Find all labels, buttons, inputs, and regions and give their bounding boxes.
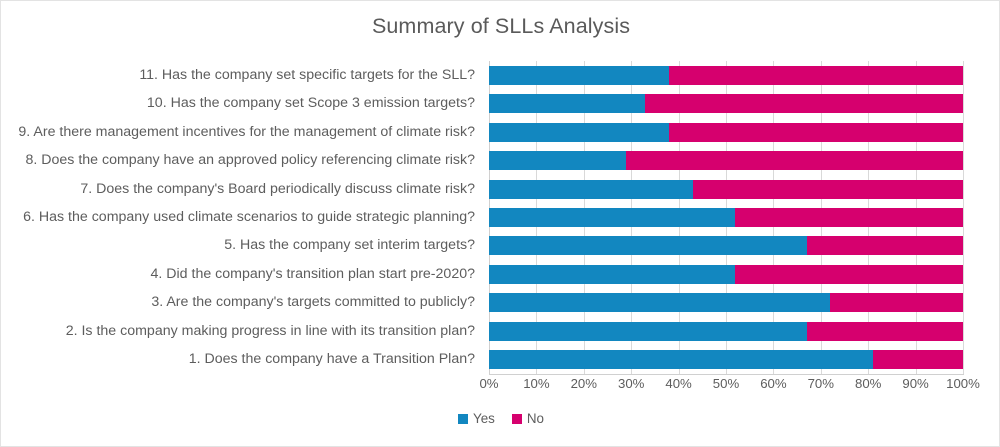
category-label: 7. Does the company's Board periodically… bbox=[80, 180, 475, 199]
bar-row[interactable] bbox=[489, 151, 963, 170]
chart-container: Summary of SLLs Analysis 11. Has the com… bbox=[0, 0, 1000, 447]
bar-segment-no[interactable] bbox=[807, 322, 963, 341]
bar-segment-yes[interactable] bbox=[489, 180, 693, 199]
category-label: 6. Has the company used climate scenario… bbox=[23, 208, 475, 227]
bar-segment-yes[interactable] bbox=[489, 208, 735, 227]
x-tick-label: 50% bbox=[713, 376, 739, 391]
bar-segment-no[interactable] bbox=[735, 265, 963, 284]
category-label: 8. Does the company have an approved pol… bbox=[25, 151, 475, 170]
legend-swatch-icon bbox=[512, 414, 522, 424]
x-axis-line bbox=[489, 374, 964, 375]
legend-swatch-icon bbox=[458, 414, 468, 424]
bar-segment-no[interactable] bbox=[735, 208, 963, 227]
category-axis-labels: 11. Has the company set specific targets… bbox=[1, 61, 483, 374]
bar-row[interactable] bbox=[489, 350, 963, 369]
category-label: 11. Has the company set specific targets… bbox=[139, 66, 475, 85]
bar-segment-no[interactable] bbox=[807, 236, 963, 255]
gridline-100% bbox=[963, 61, 964, 374]
category-label: 10. Has the company set Scope 3 emission… bbox=[147, 94, 475, 113]
x-tick-label: 70% bbox=[808, 376, 834, 391]
bar-row[interactable] bbox=[489, 208, 963, 227]
legend-label: Yes bbox=[473, 411, 495, 426]
bar-segment-no[interactable] bbox=[830, 293, 963, 312]
legend-item-no[interactable]: No bbox=[512, 411, 544, 426]
category-label: 1. Does the company have a Transition Pl… bbox=[189, 350, 475, 369]
bar-row[interactable] bbox=[489, 180, 963, 199]
bar-segment-yes[interactable] bbox=[489, 236, 807, 255]
bar-segment-no[interactable] bbox=[693, 180, 963, 199]
category-label: 5. Has the company set interim targets? bbox=[224, 236, 475, 255]
bar-segment-no[interactable] bbox=[645, 94, 963, 113]
x-tick-label: 0% bbox=[479, 376, 498, 391]
bar-segment-yes[interactable] bbox=[489, 265, 735, 284]
plot-area bbox=[489, 61, 963, 374]
bar-segment-yes[interactable] bbox=[489, 151, 626, 170]
bar-row[interactable] bbox=[489, 293, 963, 312]
category-label: 3. Are the company's targets committed t… bbox=[151, 293, 475, 312]
x-tick-label: 10% bbox=[523, 376, 549, 391]
bar-segment-no[interactable] bbox=[873, 350, 963, 369]
category-label: 2. Is the company making progress in lin… bbox=[66, 322, 475, 341]
category-label: 9. Are there management incentives for t… bbox=[18, 123, 475, 142]
category-label: 4. Did the company's transition plan sta… bbox=[151, 265, 475, 284]
chart-title: Summary of SLLs Analysis bbox=[1, 14, 1000, 39]
bar-row[interactable] bbox=[489, 322, 963, 341]
bar-segment-no[interactable] bbox=[669, 123, 963, 142]
bar-segment-yes[interactable] bbox=[489, 94, 645, 113]
bar-row[interactable] bbox=[489, 236, 963, 255]
legend-item-yes[interactable]: Yes bbox=[458, 411, 495, 426]
bar-segment-yes[interactable] bbox=[489, 66, 669, 85]
x-tick-label: 20% bbox=[571, 376, 597, 391]
x-tick-label: 90% bbox=[902, 376, 928, 391]
bar-segment-yes[interactable] bbox=[489, 322, 807, 341]
bar-row[interactable] bbox=[489, 66, 963, 85]
legend-label: No bbox=[527, 411, 544, 426]
x-tick-label: 60% bbox=[760, 376, 786, 391]
bar-rows bbox=[489, 61, 963, 374]
x-tick-label: 40% bbox=[665, 376, 691, 391]
bar-segment-no[interactable] bbox=[626, 151, 963, 170]
bar-row[interactable] bbox=[489, 123, 963, 142]
x-tick-label: 100% bbox=[946, 376, 980, 391]
bar-segment-yes[interactable] bbox=[489, 123, 669, 142]
bar-segment-yes[interactable] bbox=[489, 350, 873, 369]
x-tick-label: 80% bbox=[855, 376, 881, 391]
bar-segment-no[interactable] bbox=[669, 66, 963, 85]
x-tick-label: 30% bbox=[618, 376, 644, 391]
chart-legend: YesNo bbox=[1, 411, 1000, 426]
x-axis-ticks: 0%10%20%30%40%50%60%70%80%90%100% bbox=[489, 376, 963, 396]
bar-segment-yes[interactable] bbox=[489, 293, 830, 312]
bar-row[interactable] bbox=[489, 94, 963, 113]
bar-row[interactable] bbox=[489, 265, 963, 284]
